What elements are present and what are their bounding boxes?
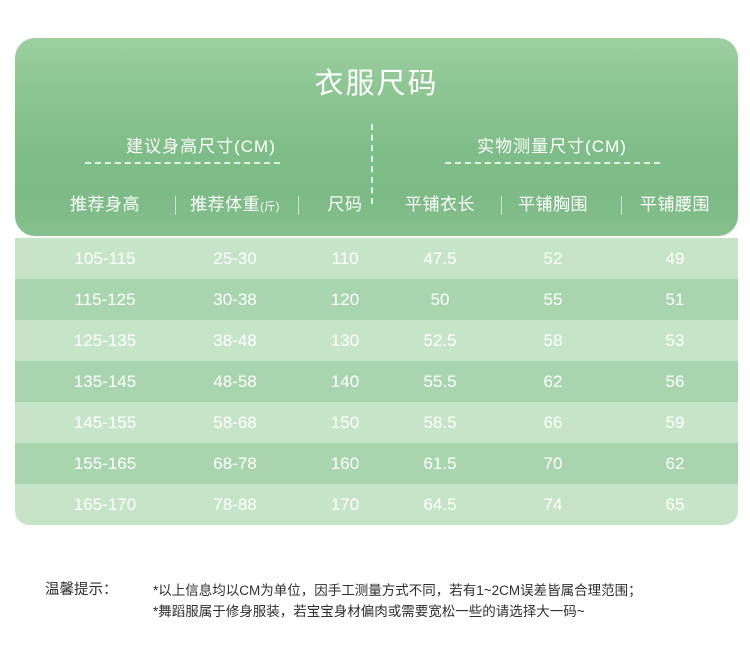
column-header-recommended-weight-label: 推荐体重	[190, 195, 260, 214]
cell-flat-length: 61.5	[380, 443, 500, 484]
cell-recommended-height: 125-135	[35, 320, 175, 361]
cell-flat-length: 58.5	[380, 402, 500, 443]
cell-flat-bust: 55	[493, 279, 613, 320]
chart-header-panel: 衣服尺码 建议身高尺寸(CM) 实物测量尺寸(CM) 推荐身高 推荐体重(斤) …	[15, 38, 738, 236]
table-row: 115-125 30-38 120 50 55 51	[15, 279, 738, 320]
column-header-flat-bust: 平铺胸围	[493, 186, 613, 224]
table-row: 125-135 38-48 130 52.5 58 53	[15, 320, 738, 361]
cell-flat-bust: 62	[493, 361, 613, 402]
size-chart-page: 衣服尺码 建议身高尺寸(CM) 实物测量尺寸(CM) 推荐身高 推荐体重(斤) …	[0, 0, 750, 652]
cell-recommended-height: 115-125	[35, 279, 175, 320]
cell-recommended-weight: 25-30	[175, 238, 295, 279]
cell-flat-length: 47.5	[380, 238, 500, 279]
footer-note-line-1: *以上信息均以CM为单位，因手工测量方式不同，若有1~2CM误差皆属合理范围；	[153, 580, 728, 601]
column-header-row: 推荐身高 推荐体重(斤) 尺码 平铺衣长 平铺胸围 平铺腰围	[15, 186, 738, 224]
group-header-measured-size: 实物测量尺寸(CM)	[387, 132, 717, 157]
cell-flat-waist: 62	[615, 443, 735, 484]
group-underline-right	[445, 162, 660, 164]
cell-flat-length: 50	[380, 279, 500, 320]
footer-lines: *以上信息均以CM为单位，因手工测量方式不同，若有1~2CM误差皆属合理范围； …	[153, 580, 728, 622]
table-row: 155-165 68-78 160 61.5 70 62	[15, 443, 738, 484]
table-row: 105-115 25-30 110 47.5 52 49	[15, 238, 738, 279]
cell-recommended-weight: 48-58	[175, 361, 295, 402]
column-header-recommended-height: 推荐身高	[35, 186, 175, 224]
cell-recommended-height: 165-170	[35, 484, 175, 525]
cell-flat-waist: 53	[615, 320, 735, 361]
cell-flat-bust: 58	[493, 320, 613, 361]
cell-flat-waist: 56	[615, 361, 735, 402]
column-header-flat-waist: 平铺腰围	[615, 186, 735, 224]
cell-recommended-weight: 78-88	[175, 484, 295, 525]
cell-recommended-weight: 68-78	[175, 443, 295, 484]
cell-flat-bust: 74	[493, 484, 613, 525]
cell-recommended-weight: 38-48	[175, 320, 295, 361]
group-header-recommended-size: 建议身高尺寸(CM)	[51, 132, 351, 157]
cell-recommended-weight: 58-68	[175, 402, 295, 443]
group-underline-left	[85, 162, 280, 164]
footer-note-line-2: *舞蹈服属于修身服装，若宝宝身材偏肉或需要宽松一些的请选择大一码~	[153, 601, 728, 622]
footer-label: 温馨提示：	[45, 580, 118, 601]
table-row: 145-155 58-68 150 58.5 66 59	[15, 402, 738, 443]
size-table-body: 105-115 25-30 110 47.5 52 49 115-125 30-…	[15, 238, 738, 525]
cell-flat-waist: 59	[615, 402, 735, 443]
table-row: 165-170 78-88 170 64.5 74 65	[15, 484, 738, 525]
cell-flat-waist: 65	[615, 484, 735, 525]
cell-flat-length: 55.5	[380, 361, 500, 402]
page-title: 衣服尺码	[15, 60, 738, 102]
column-header-recommended-weight-unit: (斤)	[260, 201, 280, 213]
cell-recommended-height: 105-115	[35, 238, 175, 279]
cell-flat-length: 52.5	[380, 320, 500, 361]
cell-flat-length: 64.5	[380, 484, 500, 525]
column-header-recommended-weight: 推荐体重(斤)	[175, 186, 295, 224]
cell-flat-bust: 52	[493, 238, 613, 279]
cell-recommended-weight: 30-38	[175, 279, 295, 320]
cell-flat-waist: 51	[615, 279, 735, 320]
cell-flat-waist: 49	[615, 238, 735, 279]
cell-recommended-height: 145-155	[35, 402, 175, 443]
cell-recommended-height: 135-145	[35, 361, 175, 402]
cell-recommended-height: 155-165	[35, 443, 175, 484]
cell-flat-bust: 70	[493, 443, 613, 484]
column-header-flat-length: 平铺衣长	[380, 186, 500, 224]
cell-flat-bust: 66	[493, 402, 613, 443]
table-row: 135-145 48-58 140 55.5 62 56	[15, 361, 738, 402]
